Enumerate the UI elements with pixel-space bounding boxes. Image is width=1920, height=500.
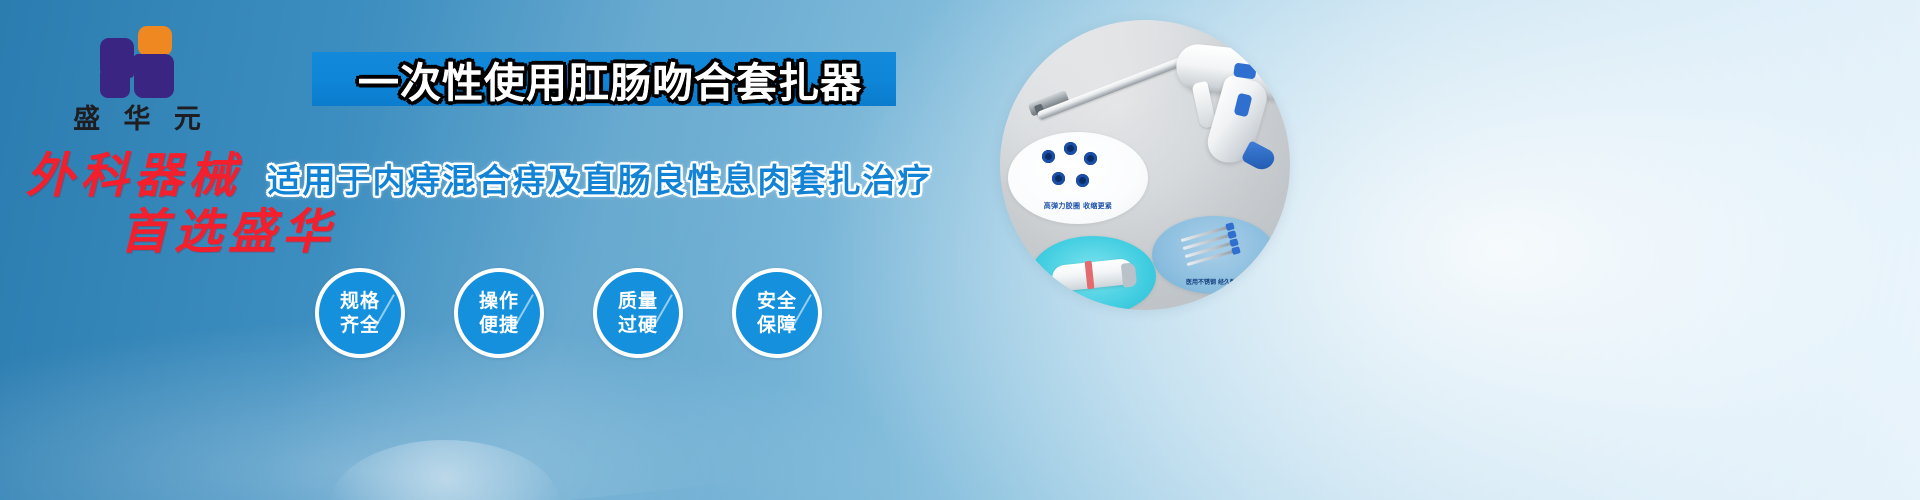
- feature-badge-1[interactable]: 操作 便捷: [454, 268, 544, 358]
- background-bottom-arc: [330, 440, 560, 500]
- elastic-rings-inset: 高弹力胶圈 收缩更紧: [1008, 132, 1148, 224]
- shenghuayuan-blocks-logo-icon: [100, 26, 174, 98]
- elastic-ring: [1064, 142, 1077, 155]
- elastic-rings-caption: 高弹力胶圈 收缩更紧: [1008, 201, 1148, 211]
- product-photo-circle: 高弹力胶圈 收缩更紧 医用不锈钢 经久耐用: [1000, 20, 1290, 310]
- promo-banner: 盛 华 元 外科器械 首选盛华 一次性使用肛肠吻合套扎器 一次性使用肛肠吻合套扎…: [0, 0, 1920, 500]
- feature-badge-0[interactable]: 规格 齐全: [315, 268, 405, 358]
- feature-badge-list: 规格 齐全 操作 便捷 质量 过硬 安全 保障: [315, 268, 855, 363]
- needles-inset: 医用不锈钢 经久耐用: [1152, 216, 1276, 294]
- elastic-ring: [1052, 172, 1065, 185]
- feature-badge-2-line1: 质量: [618, 289, 658, 313]
- logo-block-c: [100, 70, 130, 98]
- brand-logo-block[interactable]: 盛 华 元: [62, 26, 212, 133]
- slogan-line-2: 首选盛华: [20, 208, 380, 256]
- cylinder-cap: [1121, 262, 1137, 287]
- logo-block-b-orange: [138, 26, 172, 56]
- feature-badge-3-line1: 安全: [757, 289, 797, 313]
- elastic-ring: [1042, 150, 1055, 163]
- feature-badge-1-line2: 便捷: [479, 313, 519, 337]
- elastic-ring: [1084, 152, 1097, 165]
- feature-badge-3-line2: 保障: [757, 313, 797, 337]
- feature-badge-2[interactable]: 质量 过硬: [593, 268, 683, 358]
- page-title-outline: 一次性使用肛肠吻合套扎器: [330, 54, 890, 104]
- feature-badge-1-line1: 操作: [479, 289, 519, 313]
- needles-caption: 医用不锈钢 经久耐用: [1152, 277, 1276, 286]
- page-subtitle: 适用于内痔混合痔及直肠良性息肉套扎治疗: [300, 156, 900, 200]
- cylinder-inset: [1030, 236, 1156, 310]
- device-blue-button-a: [1233, 63, 1257, 80]
- brand-name: 盛 华 元: [62, 106, 212, 133]
- elastic-ring: [1076, 174, 1089, 187]
- feature-badge-2-line2: 过硬: [618, 313, 658, 337]
- feature-badge-0-line2: 齐全: [340, 313, 380, 337]
- logo-block-e: [126, 56, 142, 70]
- feature-badge-0-line1: 规格: [340, 289, 380, 313]
- feature-badge-3[interactable]: 安全 保障: [732, 268, 822, 358]
- device-keypad-icon: [1257, 51, 1279, 69]
